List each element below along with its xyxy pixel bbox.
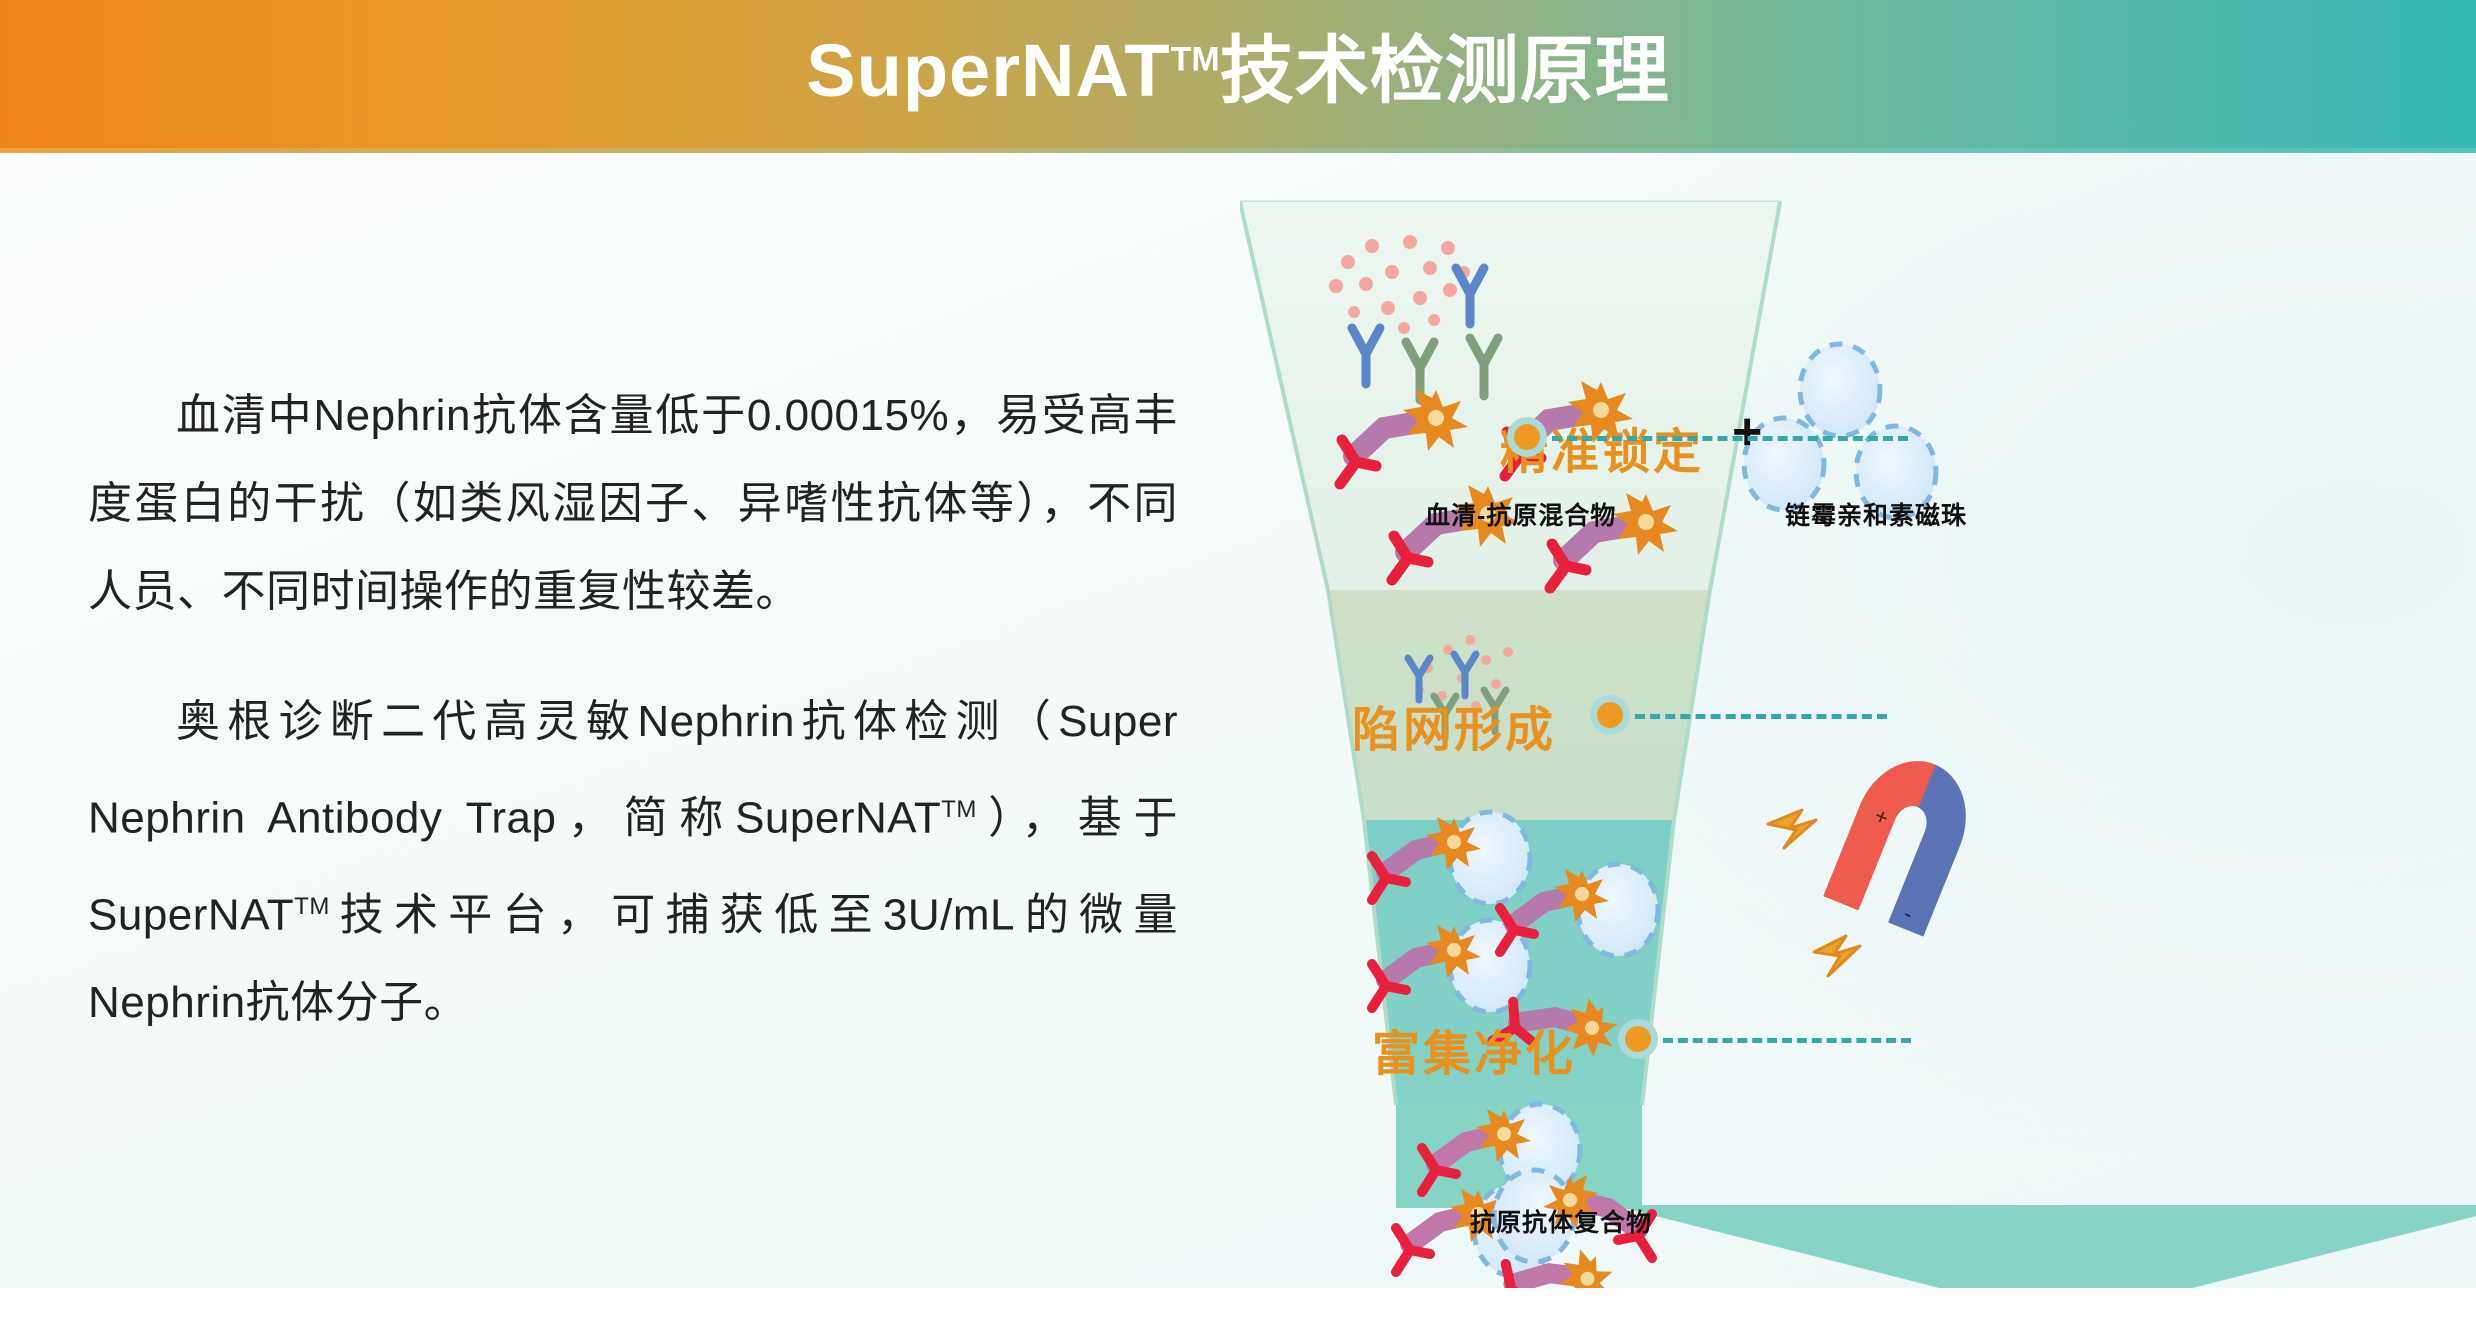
step-dot-1 (1514, 424, 1540, 450)
step-label-3: 富集净化 (1372, 1014, 1576, 1084)
caption-serum-antigen-mix: 血清-抗原混合物 (1425, 496, 1616, 532)
step-dot-3 (1625, 1026, 1651, 1052)
page-root: SuperNATTM技术检测原理 血清中Nephrin抗体含量低于0.00015… (0, 0, 2476, 1324)
magnet-icon: + - (1768, 744, 1985, 976)
streptavidin-beads-top (1744, 344, 1936, 518)
caption-streptavidin-beads: 链霉亲和素磁珠 (1785, 496, 1967, 532)
plus-sign: + (1732, 406, 1762, 458)
text-column: 血清中Nephrin抗体含量低于0.00015%，易受高丰度蛋白的干扰（如类风湿… (88, 372, 1178, 1047)
caption-antigen-antibody-complex: 抗原抗体复合物 (1470, 1203, 1652, 1239)
step-dot-2 (1597, 702, 1623, 728)
header-banner: SuperNATTM技术检测原理 (0, 0, 2476, 148)
paragraph-1: 血清中Nephrin抗体含量低于0.00015%，易受高丰度蛋白的干扰（如类风湿… (88, 372, 1178, 636)
paragraph-2-tm-1: TM (941, 796, 977, 823)
page-title: SuperNATTM技术检测原理 (806, 34, 1669, 108)
paragraph-2: 奥根诊断二代高灵敏Nephrin抗体检测（Super Nephrin Antib… (88, 678, 1178, 1047)
step-connector-2 (1635, 714, 1887, 719)
step-label-2: 陷网形成 (1352, 690, 1556, 760)
step-connector-3 (1663, 1038, 1911, 1043)
title-main: SuperNAT (806, 29, 1170, 112)
title-suffix: 技术检测原理 (1220, 29, 1670, 112)
paragraph-2-tm-2: TM (294, 893, 330, 920)
title-trademark: TM (1171, 40, 1220, 78)
step-connector-1 (1552, 436, 1908, 441)
bottom-white-strip (0, 1288, 2476, 1324)
